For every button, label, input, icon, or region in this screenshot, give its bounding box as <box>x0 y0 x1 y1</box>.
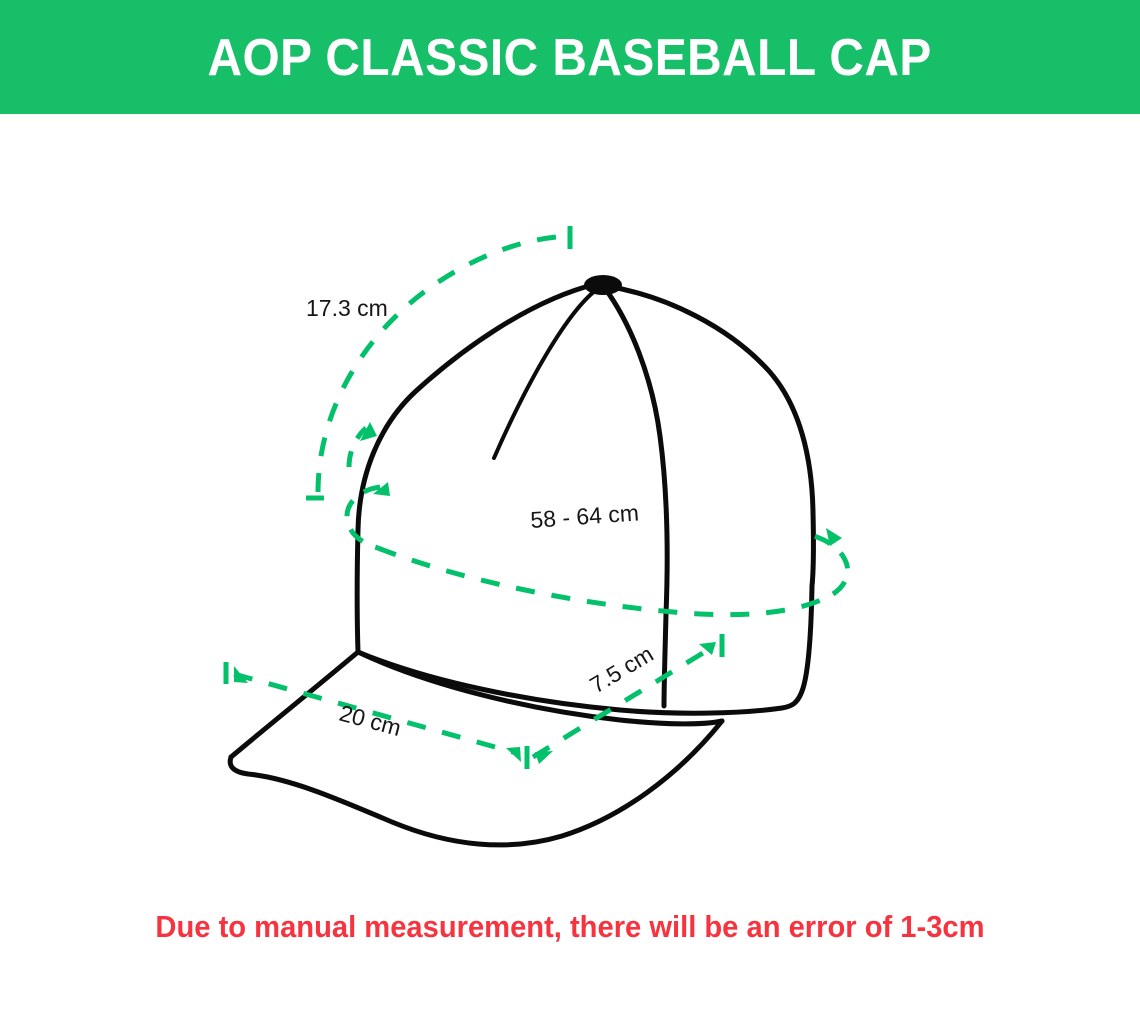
dimension-head-circumference: 58 - 64 cm <box>347 482 848 615</box>
brim-width-arrowhead-left <box>234 666 248 683</box>
crown-height-label: 17.3 cm <box>306 295 388 321</box>
crown-bottom-band <box>358 586 812 713</box>
size-chart-page: AOP CLASSIC BASEBALL CAP 17.3 cm <box>0 0 1140 1020</box>
header-band: AOP CLASSIC BASEBALL CAP <box>0 0 1140 114</box>
cap-diagram-svg: 17.3 cm <box>0 114 1140 904</box>
dimension-crown-height: 17.3 cm <box>306 226 570 498</box>
measurement-disclaimer: Due to manual measurement, there will be… <box>34 908 1106 945</box>
dimension-brim-width: 20 cm <box>226 662 527 769</box>
crown-front-stitch <box>494 290 596 458</box>
brim-depth-label: 7.5 cm <box>585 640 658 698</box>
crown-button-icon <box>584 275 622 295</box>
crown-height-lower-hook <box>349 428 366 467</box>
brim-width-label: 20 cm <box>337 700 404 741</box>
diagram-container: 17.3 cm <box>0 114 1140 904</box>
head-circumference-label: 58 - 64 cm <box>530 499 640 533</box>
crown-left-side-edge <box>357 530 358 652</box>
crown-height-arc <box>318 236 568 492</box>
circumference-front-band <box>378 548 833 615</box>
brim-depth-arrowhead-lower <box>535 751 553 764</box>
crown-back-right-silhouette <box>606 286 813 586</box>
crown-panel-seam-middle <box>604 287 667 706</box>
brim-outer-edge <box>230 721 722 845</box>
brim-width-arrowhead-right <box>506 747 521 762</box>
page-title: AOP CLASSIC BASEBALL CAP <box>208 32 932 84</box>
cap-outline <box>230 284 813 845</box>
